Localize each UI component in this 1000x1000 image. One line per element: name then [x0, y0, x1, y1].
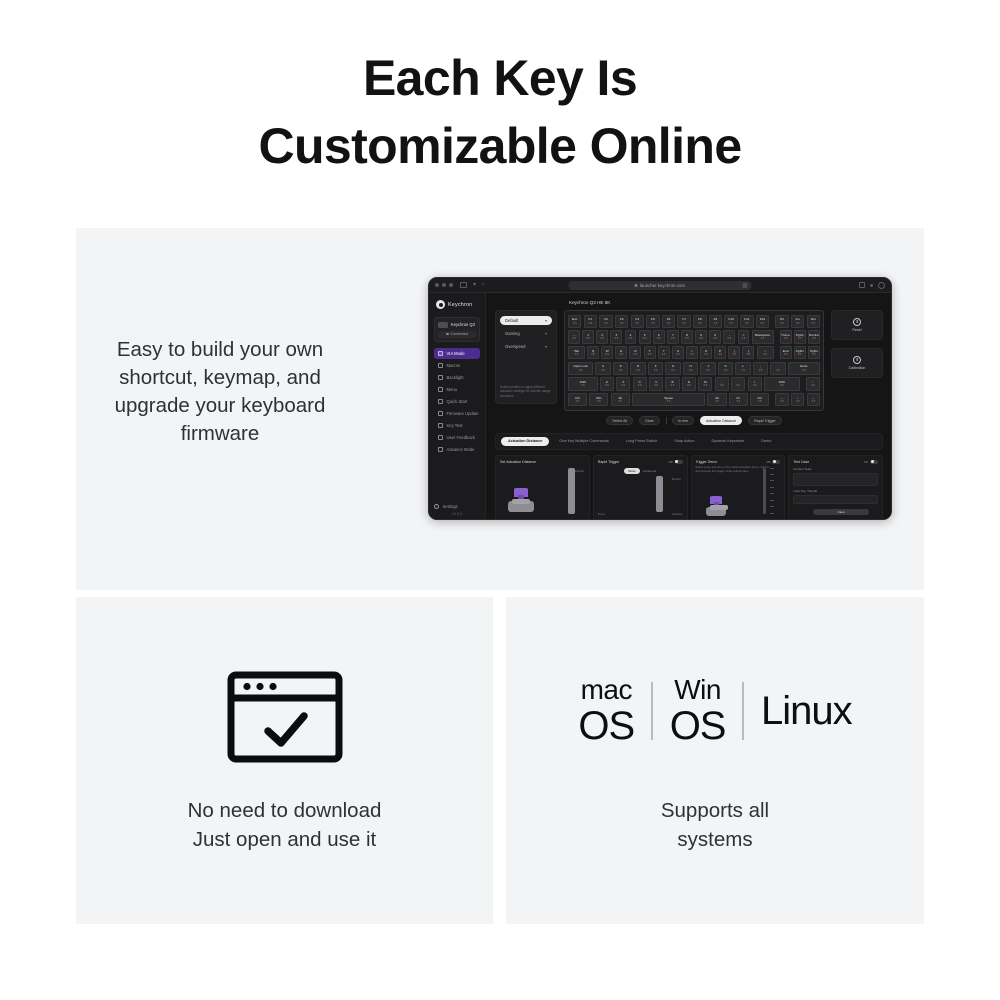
key-actuation-value: 0.5: [761, 322, 765, 325]
key-actuation-value: 0.5: [720, 384, 724, 387]
sidebar-item-firmware-update[interactable]: Firmware Update: [434, 408, 480, 419]
page-title-line1: Each Key Is: [363, 50, 637, 106]
sidebar-item-menu[interactable]: Menu: [434, 384, 480, 395]
key-actuation-value: 0.5: [747, 353, 751, 356]
key-p[interactable]: P0.5: [714, 346, 726, 360]
sidebar-item-label: Settings: [443, 504, 458, 509]
os-logo-macos: mac OS: [561, 676, 651, 746]
switch-illustration: [508, 488, 534, 512]
key-actuation-value: 0.5: [671, 369, 675, 372]
sidebar-item-label: VIA Mode: [447, 351, 465, 356]
input-key-words-label: Input Key / Words: [793, 489, 878, 493]
sidebar-item-label: Quick Start: [447, 399, 468, 404]
keyboard-thumbnail-icon: [438, 322, 448, 328]
sidebar-item-label: Firmware Update: [447, 411, 479, 416]
key-c[interactable]: C0.5: [633, 377, 647, 391]
device-card[interactable]: Keychron Q3 HE 8K Connected: [434, 317, 480, 342]
switch-base-shape: [706, 507, 726, 516]
gear-icon: [434, 504, 439, 509]
key-o[interactable]: O0.5: [700, 346, 712, 360]
key-b[interactable]: B0.5: [665, 377, 679, 391]
sidebar-item-label: User Feedback: [447, 435, 475, 440]
toggle-label: Off: [669, 460, 673, 464]
actuation-distance-toggle[interactable]: Actuation Distance: [700, 416, 742, 425]
clear-button[interactable]: Clear: [813, 509, 869, 515]
sidebar-item-label: Backlight: [447, 375, 464, 380]
feature-tabbar: Actuation Distance One Key Multiple Comm…: [495, 433, 883, 449]
key--[interactable]: ↑0.5: [806, 377, 820, 391]
keyboard-layout[interactable]: Esc0.5F10.5F20.5F30.5F40.5F50.5F60.5F70.…: [564, 310, 824, 411]
toggle-switch-icon[interactable]: [675, 460, 683, 464]
key-f12[interactable]: F120.5: [756, 315, 769, 329]
sidebar-footer: Settings V1.0.0: [434, 504, 480, 516]
key-fn[interactable]: Fn0.5: [729, 393, 748, 407]
key-k[interactable]: K0.5: [718, 362, 733, 376]
profile-item-overspeed[interactable]: Overspeed ▾: [500, 342, 552, 351]
key-shift[interactable]: Shift0.5: [568, 377, 598, 391]
tab-actuation-distance[interactable]: Actuation Distance: [501, 437, 549, 445]
key-1[interactable]: 10.5: [582, 330, 594, 344]
key-actuation-value: 0.5: [733, 353, 737, 356]
rapid-trigger-value: 0.3 mm: [672, 478, 681, 481]
unit-mm-toggle[interactable]: In mm: [672, 416, 694, 425]
panel-trigger-demo: Trigger Demo Off Select a key and turn o…: [691, 455, 786, 521]
key-esc[interactable]: Esc0.5: [568, 315, 581, 329]
key-2[interactable]: 20.5: [596, 330, 608, 344]
os-logo-winos: Win OS: [653, 676, 743, 746]
key--[interactable]: ←0.5: [775, 393, 788, 407]
page-title: Each Key Is Customizable Online: [0, 44, 1000, 180]
key-h[interactable]: H0.5: [683, 362, 698, 376]
key-actuation-value: 0.5: [620, 353, 624, 356]
key-f[interactable]: F0.5: [648, 362, 663, 376]
key-g[interactable]: G0.5: [665, 362, 680, 376]
promo-page: Each Key Is Customizable Online Easy to …: [0, 0, 1000, 1000]
key-r[interactable]: R0.5: [629, 346, 641, 360]
key-actuation-value: 0.5: [643, 337, 647, 340]
key-actuation-value: 0.5: [812, 337, 816, 340]
key-m[interactable]: M0.5: [698, 377, 712, 391]
key-actuation-value: 0.5: [662, 353, 666, 356]
plus-icon[interactable]: [870, 284, 873, 287]
key-actuation-value: 0.5: [704, 353, 708, 356]
browser-window-check-icon: [227, 671, 343, 763]
key-space[interactable]: Space0.5: [632, 393, 705, 407]
key-alt[interactable]: Alt0.5: [611, 393, 630, 407]
key-actuation-value: 0.5: [604, 322, 608, 325]
key-actuation-value: 0.5: [802, 369, 806, 372]
keyboard-wrap: Esc0.5F10.5F20.5F30.5F40.5F50.5F60.5F70.…: [564, 310, 824, 425]
key-actuation-value: 0.5: [745, 322, 749, 325]
os-logo-macos-top: mac: [581, 676, 632, 704]
keyboard-row: Esc0.5F10.5F20.5F30.5F40.5F50.5F60.5F70.…: [568, 315, 820, 329]
sidebar-item-quick-start[interactable]: Quick Start: [434, 396, 480, 407]
key-actuation-value: 0.5: [689, 369, 693, 372]
sidebar-item-label: Menu: [447, 387, 457, 392]
key-actuation-value: 0.5: [798, 337, 802, 340]
browser-window-controls[interactable]: ▾ ‹: [435, 282, 484, 288]
share-icon[interactable]: [859, 282, 865, 288]
rapid-trigger-buttons: Press Release: [598, 512, 683, 516]
key-actuation-value: 0.5: [579, 369, 583, 372]
key-3[interactable]: 30.5: [610, 330, 622, 344]
caption-line2: systems: [506, 825, 924, 854]
key-f3[interactable]: F30.5: [615, 315, 628, 329]
key-actuation-value: 0.5: [601, 369, 605, 372]
sidebar-item-user-feedback[interactable]: User Feedback: [434, 432, 480, 443]
actuation-slider[interactable]: [568, 468, 575, 514]
sidebar-item-via-mode[interactable]: VIA Mode: [434, 348, 480, 359]
panel-header: Rapid Trigger Off: [598, 460, 683, 464]
key--[interactable]: '0.5: [770, 362, 785, 376]
rt-mode-selected[interactable]: Mode: [624, 468, 640, 474]
sidebar-item-settings[interactable]: Settings: [434, 504, 480, 509]
key-u[interactable]: U0.5: [672, 346, 684, 360]
side-actions: Reset Calibration: [831, 310, 883, 378]
key-actuation-value: 0.5: [600, 337, 604, 340]
reset-button[interactable]: Reset: [831, 310, 883, 340]
key-actuation-value: 0.5: [682, 322, 686, 325]
input-key-words-field[interactable]: [793, 495, 878, 504]
key-actuation-value: 0.5: [780, 400, 784, 403]
key-actuation-value: 0.5: [671, 384, 675, 387]
keyboard-row: ~0.510.520.530.540.550.560.570.580.590.5…: [568, 330, 820, 344]
calibration-label: Calibration: [849, 366, 866, 370]
brand: Keychron: [434, 300, 480, 309]
rt-press-label: Press: [598, 512, 605, 516]
sidebar-item-macros[interactable]: Macros: [434, 360, 480, 371]
key-6[interactable]: 60.5: [653, 330, 665, 344]
key-z[interactable]: Z0.5: [600, 377, 614, 391]
key-actuation-value: 0.5: [780, 322, 784, 325]
key-a[interactable]: A0.5: [595, 362, 610, 376]
key-enter[interactable]: Enter0.5: [788, 362, 820, 376]
key-actuation-value: 0.5: [812, 322, 816, 325]
test-icon: [438, 423, 443, 428]
keyboard-controls: Select All Clear In mm Actuation Distanc…: [564, 416, 824, 425]
tab-snap-action[interactable]: Snap Action: [667, 437, 701, 445]
key-actuation-value: 0.5: [657, 337, 661, 340]
key-actuation-value: 0.5: [776, 369, 780, 372]
key-actuation-value: 0.5: [589, 322, 593, 325]
key-d[interactable]: D0.5: [630, 362, 645, 376]
key-actuation-value: 0.5: [812, 353, 816, 356]
browser-url-text: launcher.keychron.com: [640, 283, 685, 288]
panel-header: Trigger Demo Off: [696, 460, 781, 464]
status-dot-icon: [446, 333, 449, 336]
key-ctrl[interactable]: Ctrl0.5: [568, 393, 587, 407]
content-tests-field[interactable]: [793, 473, 878, 486]
key-4[interactable]: 40.5: [625, 330, 637, 344]
key-ins[interactable]: Ins0.5: [791, 315, 804, 329]
panel-header: Set Actuation Distance: [500, 460, 585, 464]
chevron-down-icon: ▾: [545, 318, 547, 323]
tab-one-key-multiple-commands[interactable]: One Key Multiple Commands: [552, 437, 615, 445]
os-logo-winos-bottom: OS: [670, 706, 726, 746]
key-actuation-value: 0.5: [575, 353, 579, 356]
key-actuation-value: 0.5: [586, 337, 590, 340]
key-s[interactable]: S0.5: [613, 362, 628, 376]
key-actuation-value: 0.5: [620, 322, 624, 325]
browser-toolbar-right[interactable]: [859, 282, 885, 289]
key-n[interactable]: N0.5: [682, 377, 696, 391]
chevron-down-icon: ▾: [545, 331, 547, 336]
key-actuation-value: 0.5: [629, 337, 633, 340]
calibration-button[interactable]: Calibration: [831, 348, 883, 378]
rt-release-label: Release: [672, 512, 682, 516]
clear-button[interactable]: Clear: [639, 416, 660, 425]
key-actuation-value: 0.5: [605, 384, 609, 387]
rt-mode-alt[interactable]: Advanced: [643, 469, 656, 473]
sidebar-icon[interactable]: [460, 282, 467, 288]
keyboard-row: Tab0.5Q0.5W0.5E0.5R0.5T0.5Y0.5U0.5I0.5O0…: [568, 346, 820, 360]
browser-titlebar: ▾ ‹ launcher.keychron.com: [429, 278, 891, 293]
key-j[interactable]: J0.5: [700, 362, 715, 376]
key--[interactable]: =0.5: [738, 330, 750, 344]
key-5[interactable]: 50.5: [639, 330, 651, 344]
rapid-trigger-switch[interactable]: Off: [669, 460, 683, 464]
key-f7[interactable]: F70.5: [677, 315, 690, 329]
device-status-label: Connected: [451, 332, 468, 336]
key--[interactable]: [0.5: [728, 346, 740, 360]
key-shift[interactable]: Shift0.5: [764, 377, 800, 391]
page-title-line2: Customizable Online: [0, 112, 1000, 180]
profile-item-gaming[interactable]: Gaming ▾: [500, 329, 552, 338]
panel-row: Set Actuation Distance 2.0 mm Rapid Trig…: [495, 455, 883, 521]
toggle-switch-icon[interactable]: [772, 460, 780, 464]
key-actuation-value: 0.5: [636, 369, 640, 372]
profile-label: Gaming: [505, 331, 520, 336]
demo-track: [763, 468, 766, 514]
key-q[interactable]: Q0.5: [587, 346, 599, 360]
test-case-switch[interactable]: Off: [864, 460, 878, 464]
key-actuation-value: 0.5: [761, 337, 765, 340]
key-f2[interactable]: F20.5: [599, 315, 612, 329]
keyboard-row: Shift0.5Z0.5X0.5C0.5V0.5B0.5N0.5M0.5,0.5…: [568, 377, 820, 391]
minimize-icon[interactable]: [442, 283, 446, 287]
key-f6[interactable]: F60.5: [662, 315, 675, 329]
key-actuation-value: 0.5: [651, 322, 655, 325]
tabs-overview-icon[interactable]: [878, 282, 885, 289]
macro-icon: [438, 363, 443, 368]
keyboard-stage: Default ▾ Gaming ▾ Overspeed ▾ Switch pr…: [495, 310, 883, 425]
key-actuation-value: 0.5: [576, 400, 580, 403]
key-x[interactable]: X0.5: [616, 377, 630, 391]
panel-title: Rapid Trigger: [598, 460, 620, 464]
switch-illustration: [706, 496, 726, 516]
key-v[interactable]: V0.5: [649, 377, 663, 391]
panel-subtitle: Select a key and turn on the switch actu…: [696, 466, 781, 474]
device-name: Keychron Q3 HE 8K: [451, 322, 476, 327]
reload-icon[interactable]: [743, 283, 748, 288]
key--[interactable]: ,0.5: [715, 377, 729, 391]
key-caps-lock[interactable]: Caps Lock0.5: [568, 362, 593, 376]
app-version: V1.0.0: [434, 512, 480, 516]
key-actuation-value: 0.5: [634, 353, 638, 356]
key-8[interactable]: 80.5: [681, 330, 693, 344]
chevron-left-icon[interactable]: ‹: [482, 282, 484, 288]
switch-base-shape: [508, 501, 534, 512]
key-0[interactable]: 00.5: [709, 330, 721, 344]
key-i[interactable]: I0.5: [686, 346, 698, 360]
key-f10[interactable]: F100.5: [724, 315, 737, 329]
actuation-value: 2.0 mm: [575, 470, 584, 473]
feature-card-bottom-right: [506, 597, 924, 924]
chevron-down-icon[interactable]: ▾: [473, 282, 476, 288]
panel-rapid-trigger: Rapid Trigger Off Mode Advanced 0.3 mm: [593, 455, 688, 521]
device-status-badge: Connected: [438, 331, 476, 338]
key-pgdn[interactable]: PgDn0.5: [794, 346, 806, 360]
sidebar-item-advance-mode[interactable]: Advance Mode: [434, 444, 480, 455]
key-actuation-value: 0.5: [635, 322, 639, 325]
panel-title: Trigger Demo: [696, 460, 718, 464]
key--[interactable]: ↓0.5: [791, 393, 804, 407]
feature-card-bottom-left-caption: No need to download Just open and use it: [76, 796, 493, 854]
key-ctrl[interactable]: Ctrl0.5: [750, 393, 769, 407]
key--[interactable]: ;0.5: [753, 362, 768, 376]
key-backspace[interactable]: Backspace0.5: [752, 330, 774, 344]
key-actuation-value: 0.5: [667, 322, 671, 325]
key-del[interactable]: Del0.5: [807, 315, 820, 329]
sliders-icon: [438, 447, 443, 452]
key-actuation-value: 0.5: [715, 400, 719, 403]
key-actuation-value: 0.5: [759, 369, 763, 372]
key-numlk[interactable]: NumLk0.5: [808, 330, 820, 344]
key-t[interactable]: T0.5: [644, 346, 656, 360]
key-f1[interactable]: F10.5: [584, 315, 597, 329]
key-f9[interactable]: F90.5: [709, 315, 722, 329]
trigger-demo-switch[interactable]: Off: [766, 460, 780, 464]
key-actuation-value: 0.5: [713, 337, 717, 340]
key-actuation-value: 0.5: [597, 400, 601, 403]
key-9[interactable]: 90.5: [695, 330, 707, 344]
profile-label: Default: [505, 318, 518, 323]
key-actuation-value: 0.5: [605, 353, 609, 356]
sidebar-item-label: Advance Mode: [447, 447, 475, 452]
brand-name: Keychron: [448, 302, 472, 308]
key-actuation-value: 0.5: [638, 384, 642, 387]
app-sidebar: Keychron Keychron Q3 HE 8K Connected: [429, 293, 486, 520]
sidebar-item-backlight[interactable]: Backlight: [434, 372, 480, 383]
key-prt[interactable]: Prt0.5: [775, 315, 788, 329]
key-w[interactable]: W0.5: [601, 346, 613, 360]
key-tab[interactable]: Tab0.5: [568, 346, 585, 360]
key-alt[interactable]: Alt0.5: [707, 393, 726, 407]
keyboard-row: Caps Lock0.5A0.5S0.5D0.5F0.5G0.5H0.5J0.5…: [568, 362, 820, 376]
rapid-trigger-toggle[interactable]: Rapid Trigger: [748, 416, 782, 425]
device-row: Keychron Q3 HE 8K: [438, 322, 476, 328]
key-actuation-value: 0.5: [811, 384, 815, 387]
key-actuation-value: 0.5: [736, 384, 740, 387]
key-actuation-value: 0.5: [654, 384, 658, 387]
profile-note: Switch profiles to apply different actua…: [500, 385, 552, 398]
key-l[interactable]: L0.5: [735, 362, 750, 376]
profile-label: Overspeed: [505, 344, 525, 349]
key-f5[interactable]: F50.5: [646, 315, 659, 329]
key--[interactable]: ]0.5: [742, 346, 754, 360]
key-actuation-value: 0.5: [728, 337, 732, 340]
os-logo-row: mac OS Win OS Linux: [506, 672, 924, 750]
panel-title: Set Actuation Distance: [500, 460, 536, 464]
key--[interactable]: →0.5: [807, 393, 820, 407]
key-actuation-value: 0.5: [654, 369, 658, 372]
key-win[interactable]: Win0.5: [589, 393, 608, 407]
profile-item-default[interactable]: Default ▾: [500, 316, 552, 325]
tab-demo[interactable]: Demo: [754, 437, 778, 445]
key-pgup[interactable]: PgUp0.5: [794, 330, 806, 344]
key-actuation-value: 0.5: [699, 337, 703, 340]
keyboard-icon: [438, 351, 443, 356]
toggle-label: Off: [766, 460, 770, 464]
key--[interactable]: .0.5: [731, 377, 745, 391]
key--[interactable]: /0.5: [748, 377, 762, 391]
app-body: Keychron Keychron Q3 HE 8K Connected: [429, 293, 891, 520]
rapid-trigger-slider[interactable]: [656, 476, 663, 512]
reset-label: Reset: [852, 328, 861, 332]
toggle-switch-icon[interactable]: [870, 460, 878, 464]
demo-ticks: [770, 468, 774, 514]
key-pgdn[interactable]: PgDn0.5: [808, 346, 820, 360]
tab-dynamic-keystroke[interactable]: Dynamic Keystroke: [705, 437, 752, 445]
rapid-trigger-mode-row: Mode Advanced: [598, 468, 683, 474]
key-actuation-value: 0.5: [667, 400, 671, 403]
key-actuation-value: 0.5: [753, 384, 757, 387]
key-actuation-value: 0.5: [741, 369, 745, 372]
sidebar-item-key-test[interactable]: Key Test: [434, 420, 480, 431]
maximize-icon[interactable]: [449, 283, 453, 287]
key-e[interactable]: E0.5: [615, 346, 627, 360]
key-f11[interactable]: F110.5: [740, 315, 753, 329]
panel-set-actuation-distance: Set Actuation Distance 2.0 mm: [495, 455, 590, 521]
key--[interactable]: ~0.5: [568, 330, 580, 344]
key-actuation-value: 0.5: [698, 322, 702, 325]
rocket-icon: [438, 399, 443, 404]
key-actuation-value: 0.5: [742, 337, 746, 340]
key-end[interactable]: End0.5: [780, 346, 792, 360]
key-f8[interactable]: F80.5: [693, 315, 706, 329]
browser-url-bar[interactable]: launcher.keychron.com: [569, 281, 752, 290]
key-actuation-value: 0.5: [763, 353, 767, 356]
key--[interactable]: -0.5: [723, 330, 735, 344]
key-actuation-value: 0.5: [621, 384, 625, 387]
toggle-label: Off: [864, 460, 868, 464]
key-actuation-value: 0.5: [714, 322, 718, 325]
key-home[interactable]: Home0.5: [780, 330, 792, 344]
key-f4[interactable]: F40.5: [631, 315, 644, 329]
tab-long-press-switch[interactable]: Long Press Switch: [619, 437, 664, 445]
caption-line2: Just open and use it: [76, 825, 493, 854]
key-7[interactable]: 70.5: [667, 330, 679, 344]
key-actuation-value: 0.5: [591, 353, 595, 356]
key-actuation-value: 0.5: [648, 353, 652, 356]
key-actuation-value: 0.5: [758, 400, 762, 403]
key-actuation-value: 0.5: [737, 400, 741, 403]
reset-icon: [853, 318, 861, 326]
light-icon: [438, 375, 443, 380]
key-actuation-value: 0.5: [690, 353, 694, 356]
key--[interactable]: \0.5: [757, 346, 774, 360]
select-all-button[interactable]: Select All: [606, 416, 633, 425]
keychron-logo-icon: [436, 300, 445, 309]
close-icon[interactable]: [435, 283, 439, 287]
feature-card-top-copy: Easy to build your own shortcut, keymap,…: [96, 336, 344, 448]
key-y[interactable]: Y0.5: [658, 346, 670, 360]
key-actuation-value: 0.5: [796, 400, 800, 403]
key-actuation-value: 0.5: [784, 353, 788, 356]
feature-card-bottom-right-caption: Supports all systems: [506, 796, 924, 854]
key-actuation-value: 0.5: [798, 353, 802, 356]
lock-icon: [635, 284, 638, 287]
